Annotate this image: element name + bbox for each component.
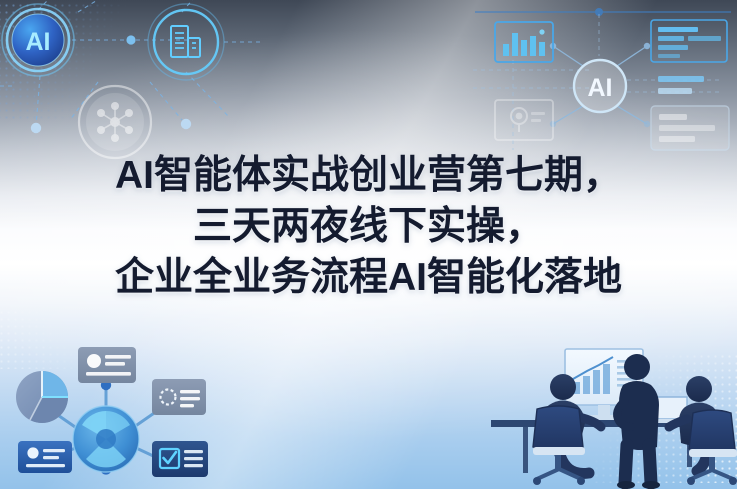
hub-spokes xyxy=(48,385,164,461)
pie-chart-icon xyxy=(16,371,68,423)
top-rail xyxy=(475,8,731,16)
location-pin-card-icon xyxy=(495,100,553,140)
text-lines-icon xyxy=(658,76,704,94)
person-seated-right-icon xyxy=(669,376,721,471)
office-chair-icon xyxy=(533,406,585,485)
person-standing-icon xyxy=(617,354,660,489)
desk-icon xyxy=(491,420,721,473)
monitor-bar-chart-icon xyxy=(565,349,643,420)
profile-card-icon xyxy=(78,347,136,383)
svg-text:AI: AI xyxy=(26,28,51,56)
title-line-3: 企业全业务流程AI智能化落地 xyxy=(0,252,737,303)
ai-hub-icon: AI xyxy=(574,60,626,112)
svg-text:AI: AI xyxy=(588,74,613,102)
bottom-right-graphic xyxy=(475,327,737,489)
bar-chart-card-icon xyxy=(495,22,553,62)
top-left-graphic: AI xyxy=(0,0,262,170)
document-building-icon xyxy=(148,4,224,80)
dashed-grid xyxy=(473,14,721,150)
network-node-icon xyxy=(79,86,151,158)
poster-canvas: AI xyxy=(0,0,737,489)
connector-dots xyxy=(31,35,191,133)
settings-card-icon xyxy=(152,379,206,415)
spoke-dots xyxy=(48,380,165,475)
ai-badge-icon: AI xyxy=(2,4,74,76)
dot-grid-top-left xyxy=(0,2,126,122)
hub-spokes xyxy=(550,43,650,127)
office-chair-icon xyxy=(687,410,737,485)
workflow-hub-icon xyxy=(73,406,139,472)
poster-title: AI智能体实战创业营第七期， 三天两夜线下实操， 企业全业务流程AI智能化落地 xyxy=(0,150,737,303)
checklist-card-icon xyxy=(152,441,208,477)
dot-grid-bottom-right xyxy=(593,353,737,483)
top-right-graphic: AI xyxy=(469,0,737,166)
title-line-2: 三天两夜线下实操， xyxy=(0,201,737,252)
person-seated-left-icon xyxy=(543,374,601,474)
dot-grid-bottom-left xyxy=(0,309,78,369)
text-list-card-icon xyxy=(651,20,727,62)
bottom-left-graphic xyxy=(0,329,240,489)
title-line-1: AI智能体实战创业营第七期， xyxy=(0,150,737,201)
faded-text-card-icon xyxy=(651,106,729,150)
contact-card-icon xyxy=(18,441,72,473)
laptop-icon xyxy=(647,397,691,423)
connector-lines xyxy=(0,0,262,126)
